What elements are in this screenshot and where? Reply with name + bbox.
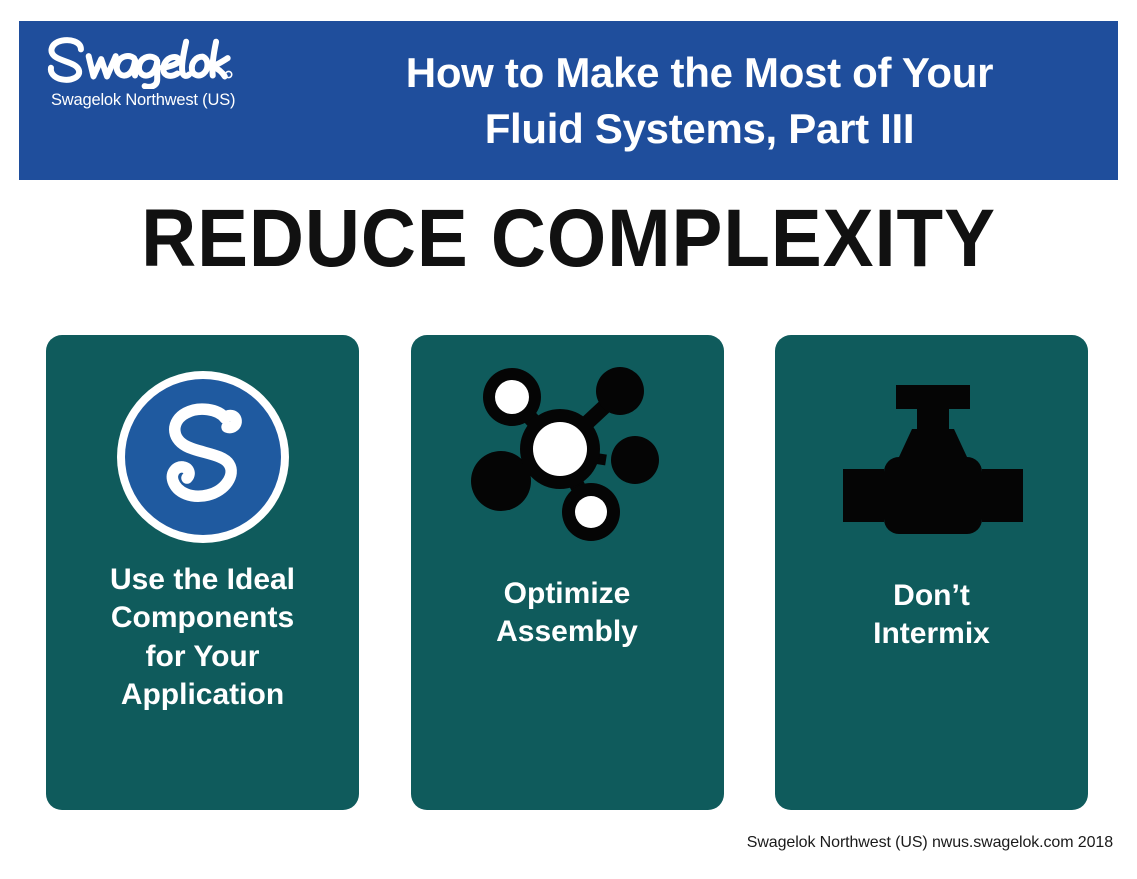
brand-block: Swagelok Northwest (US) [37,33,267,110]
valve-icon [832,377,1032,542]
card-label: Don’t Intermix [859,577,1004,654]
header-bar: Swagelok Northwest (US) How to Make the … [19,21,1118,180]
brand-subtitle: Swagelok Northwest (US) [51,91,267,110]
card-label: Use the Ideal Components for Your Applic… [96,561,309,715]
swagelok-wordmark-icon [37,33,233,89]
card-icon-wrapper [467,345,667,561]
card-dont-intermix: Don’t Intermix [775,335,1088,810]
header-title: How to Make the Most of Your Fluid Syste… [281,21,1118,180]
infographic-page: Swagelok Northwest (US) How to Make the … [0,0,1137,879]
card-row: Use the Ideal Components for Your Applic… [46,335,1088,810]
page-title: REDUCE COMPLEXITY [40,198,1097,280]
card-optimize-assembly: Optimize Assembly [411,335,724,810]
swagelok-s-logo-icon [113,367,293,547]
card-use-ideal-components: Use the Ideal Components for Your Applic… [46,335,359,810]
card-icon-wrapper [832,357,1032,561]
molecule-icon [467,353,667,553]
card-label: Optimize Assembly [482,575,652,652]
header-title-line-2: Fluid Systems, Part III [485,101,915,156]
card-icon-wrapper [113,359,293,555]
footer-credit: Swagelok Northwest (US) nwus.swagelok.co… [747,834,1113,852]
header-title-line-1: How to Make the Most of Your [406,45,993,100]
